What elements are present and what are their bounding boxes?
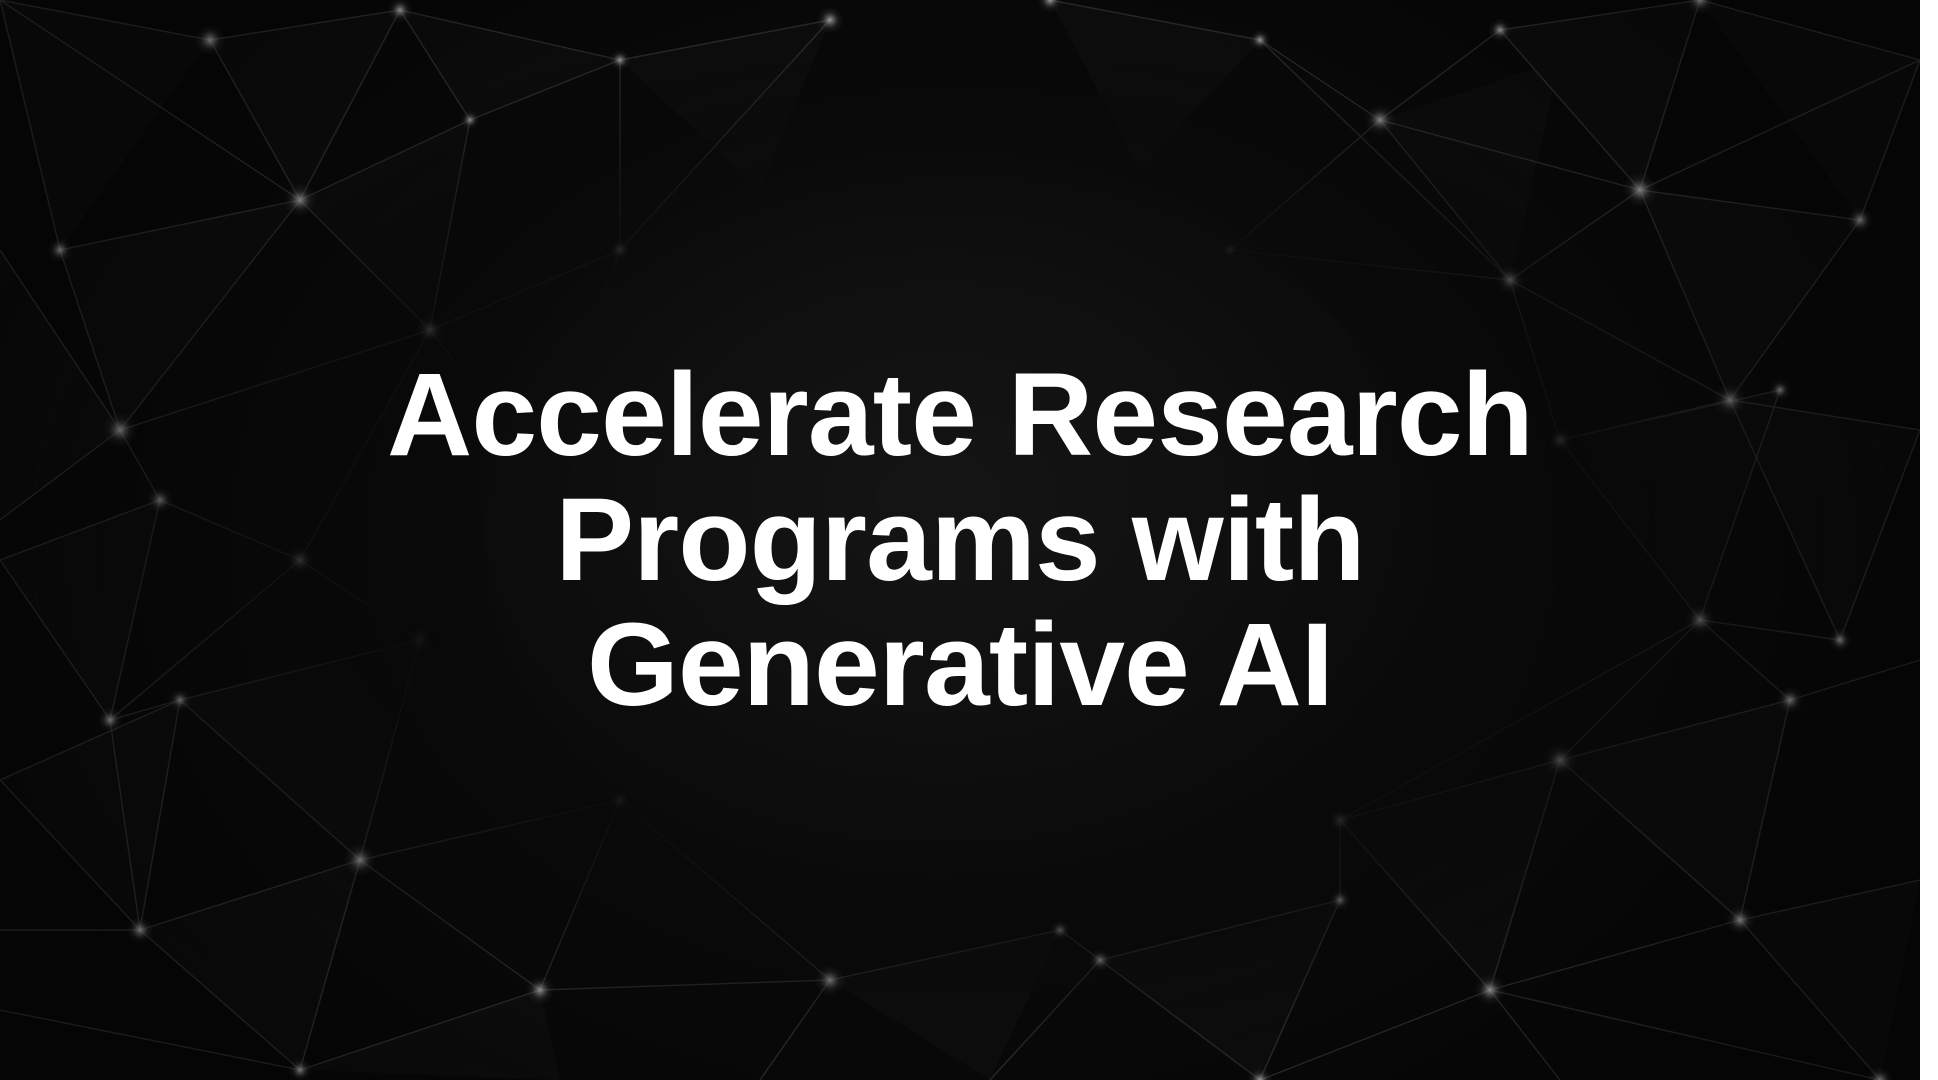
right-margin-strip (1920, 0, 1938, 1080)
plexus-network-background (0, 0, 1920, 1080)
title-slide: Accelerate Research Programs with Genera… (0, 0, 1920, 1080)
